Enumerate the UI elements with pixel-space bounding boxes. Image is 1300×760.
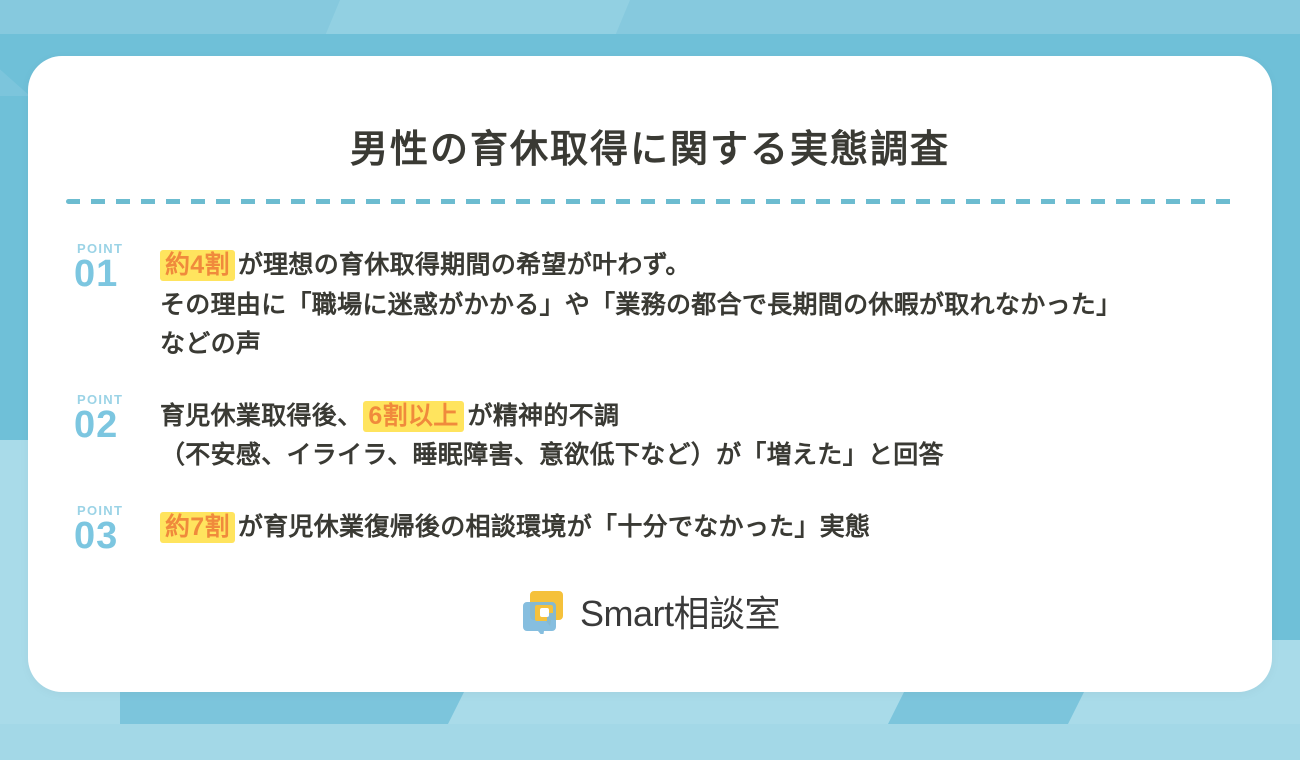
point-item-01: POINT 01 約4割が理想の育休取得期間の希望が叶わず。 その理由に「職場に… — [74, 238, 1226, 365]
brand-logo: Smart相談室 — [28, 585, 1272, 637]
points-list: POINT 01 約4割が理想の育休取得期間の希望が叶わず。 その理由に「職場に… — [28, 238, 1272, 555]
title-divider — [66, 199, 1234, 204]
page-title: 男性の育休取得に関する実態調査 — [28, 118, 1272, 173]
brand-logo-text: Smart相談室 — [580, 585, 780, 637]
infographic-card: 男性の育休取得に関する実態調査 POINT 01 約4割が理想の育休取得期間の希… — [28, 56, 1272, 692]
point-badge-01: POINT 01 — [74, 238, 160, 294]
point-body-03: 約7割が育児休業復帰後の相談環境が「十分でなかった」実態 — [160, 500, 1226, 548]
point-03-highlight: 約7割 — [160, 512, 235, 543]
point-item-03: POINT 03 約7割が育児休業復帰後の相談環境が「十分でなかった」実態 — [74, 500, 1226, 556]
point-03-line-1: 約7割が育児休業復帰後の相談環境が「十分でなかった」実態 — [160, 508, 1226, 548]
point-number-01: 01 — [74, 255, 160, 294]
smart-soudanshitsu-speech-bubbles-icon — [520, 588, 566, 634]
point-02-line-1: 育児休業取得後、6割以上が精神的不調 — [160, 397, 1226, 437]
point-03-line-1-text: が育児休業復帰後の相談環境が「十分でなかった」実態 — [238, 513, 871, 541]
point-badge-03: POINT 03 — [74, 500, 160, 556]
point-body-01: 約4割が理想の育休取得期間の希望が叶わず。 その理由に「職場に迷惑がかかる」や「… — [160, 238, 1226, 365]
point-01-line-1-text: が理想の育休取得期間の希望が叶わず。 — [238, 251, 691, 279]
point-number-02: 02 — [74, 406, 160, 445]
point-01-line-1: 約4割が理想の育休取得期間の希望が叶わず。 — [160, 246, 1226, 286]
point-01-line-3: などの声 — [160, 325, 1226, 365]
point-item-02: POINT 02 育児休業取得後、6割以上が精神的不調 （不安感、イライラ、睡眠… — [74, 389, 1226, 476]
point-02-highlight: 6割以上 — [363, 401, 463, 432]
point-body-02: 育児休業取得後、6割以上が精神的不調 （不安感、イライラ、睡眠障害、意欲低下など… — [160, 389, 1226, 476]
point-01-highlight: 約4割 — [160, 250, 235, 281]
point-02-line-2: （不安感、イライラ、睡眠障害、意欲低下など）が「増えた」と回答 — [160, 436, 1226, 476]
point-02-prefix: 育児休業取得後、 — [160, 402, 362, 430]
background-band-top — [0, 0, 1300, 34]
point-badge-02: POINT 02 — [74, 389, 160, 445]
point-number-03: 03 — [74, 517, 160, 556]
point-02-line-1-text: が精神的不調 — [468, 402, 620, 430]
background-shape-bottom-strip — [0, 724, 1300, 760]
point-01-line-2: その理由に「職場に迷惑がかかる」や「業務の都合で長期間の休暇が取れなかった」 — [160, 286, 1226, 326]
